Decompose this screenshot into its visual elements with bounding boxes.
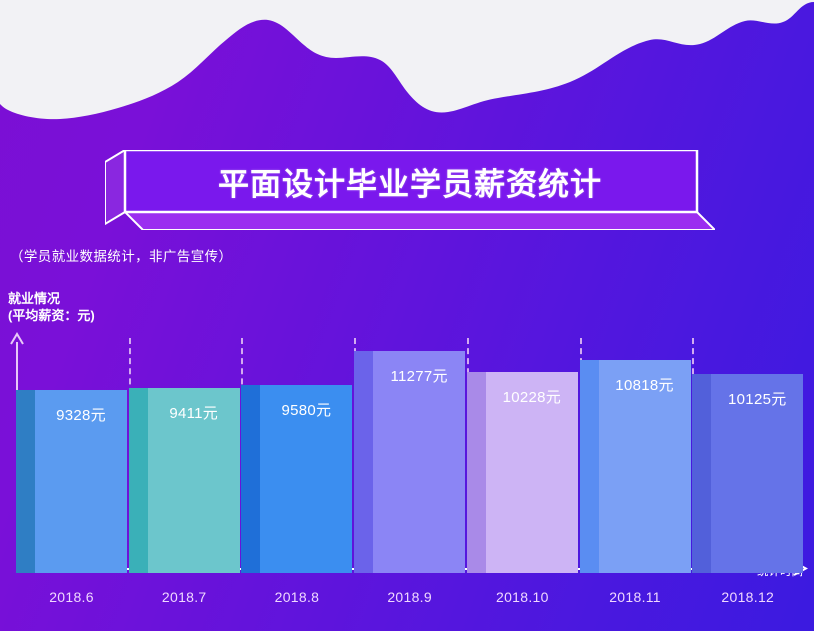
page-title: 平面设计毕业学员薪资统计 bbox=[105, 150, 715, 212]
x-tick-2018.8: 2018.8 bbox=[240, 589, 354, 605]
bar-value-label: 10228元 bbox=[503, 372, 562, 407]
y-axis-label-line2: (平均薪资：元) bbox=[8, 308, 95, 323]
title-ribbon: 平面设计毕业学员薪资统计 bbox=[105, 150, 715, 230]
bar-2018.8[interactable]: 9580元 bbox=[241, 385, 352, 573]
bar-front-face: 9411元 bbox=[148, 388, 240, 573]
bar-side-face bbox=[354, 351, 373, 573]
bar-2018.12[interactable]: 10125元 bbox=[692, 374, 803, 573]
bar-2018.11[interactable]: 10818元 bbox=[580, 360, 691, 573]
x-tick-2018.9: 2018.9 bbox=[353, 589, 467, 605]
bar-side-face bbox=[467, 372, 486, 573]
bar-side-face bbox=[692, 374, 711, 573]
bar-value-label: 10125元 bbox=[728, 374, 787, 409]
bar-value-label: 11277元 bbox=[390, 351, 447, 386]
bar-side-face bbox=[129, 388, 148, 573]
bar-value-label: 9580元 bbox=[281, 385, 331, 420]
bar-2018.9[interactable]: 11277元 bbox=[354, 351, 465, 573]
y-axis-label-line1: 就业情况 bbox=[8, 291, 60, 306]
bar-value-label: 10818元 bbox=[615, 360, 674, 395]
bar-front-face: 9580元 bbox=[260, 385, 352, 573]
bar-front-face: 10818元 bbox=[599, 360, 691, 573]
y-axis-label: 就业情况(平均薪资：元) bbox=[8, 290, 95, 324]
x-tick-2018.6: 2018.6 bbox=[15, 589, 129, 605]
bar-value-label: 9411元 bbox=[169, 388, 218, 423]
infographic-canvas: 平面设计毕业学员薪资统计 （学员就业数据统计，非广告宣传） 就业情况(平均薪资：… bbox=[0, 0, 814, 631]
bar-2018.6[interactable]: 9328元 bbox=[16, 390, 127, 573]
subtitle: （学员就业数据统计，非广告宣传） bbox=[10, 245, 232, 265]
x-tick-2018.11: 2018.11 bbox=[578, 589, 692, 605]
bar-front-face: 10228元 bbox=[486, 372, 578, 573]
bar-side-face bbox=[16, 390, 35, 573]
x-tick-2018.12: 2018.12 bbox=[691, 589, 805, 605]
bar-2018.7[interactable]: 9411元 bbox=[129, 388, 240, 573]
wave-decoration bbox=[0, 0, 814, 130]
bar-2018.10[interactable]: 10228元 bbox=[467, 372, 578, 573]
bar-side-face bbox=[241, 385, 260, 573]
bar-front-face: 10125元 bbox=[711, 374, 803, 573]
x-tick-2018.7: 2018.7 bbox=[127, 589, 241, 605]
bar-front-face: 9328元 bbox=[35, 390, 127, 573]
bar-side-face bbox=[580, 360, 599, 573]
bar-front-face: 11277元 bbox=[373, 351, 465, 573]
bar-chart: 9328元9411元9580元11277元10228元10818元10125元 bbox=[0, 330, 814, 575]
x-tick-2018.10: 2018.10 bbox=[465, 589, 579, 605]
bar-value-label: 9328元 bbox=[56, 390, 106, 425]
